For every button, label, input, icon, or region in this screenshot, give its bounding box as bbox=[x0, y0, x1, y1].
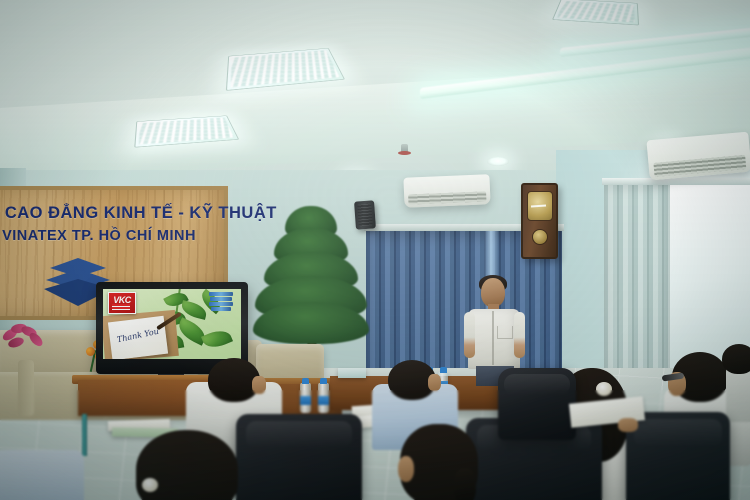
presenter-arm bbox=[464, 312, 475, 358]
table-leg bbox=[82, 414, 87, 456]
fire-sprinkler-icon bbox=[401, 144, 408, 153]
water-bottle bbox=[318, 383, 329, 413]
office-chair bbox=[498, 368, 576, 440]
vertical-blinds-right bbox=[604, 182, 670, 372]
clock-face bbox=[527, 191, 553, 221]
hand bbox=[618, 418, 638, 432]
office-chair bbox=[236, 414, 362, 500]
clock-pendulum bbox=[532, 229, 548, 245]
audience-face bbox=[428, 374, 441, 391]
vkc-logo: VKC bbox=[108, 292, 136, 314]
thank-you-card: Thank You bbox=[108, 316, 168, 359]
signboard-line-1: NG CAO ĐẲNG KINH TẾ - KỸ THUẬT bbox=[0, 204, 224, 223]
presenter-shirt bbox=[468, 309, 520, 369]
audience-face bbox=[398, 456, 414, 482]
armchair-armrest bbox=[18, 360, 34, 416]
air-conditioner-icon bbox=[403, 174, 490, 208]
presenter-shirt-pocket bbox=[497, 326, 513, 339]
wall-clock bbox=[521, 183, 558, 259]
vkc-logo-bar bbox=[112, 304, 130, 310]
office-chair bbox=[626, 412, 730, 500]
blue-books-icon bbox=[209, 292, 233, 309]
tv-screen: Thank You VKC bbox=[103, 289, 241, 359]
leaf bbox=[201, 326, 233, 351]
signboard-line-2: VINATEX TP. HỒ CHÍ MINH bbox=[0, 228, 224, 244]
lotus-decoration bbox=[2, 322, 46, 352]
blinds-rail bbox=[602, 178, 750, 185]
ac-vent bbox=[408, 191, 486, 204]
audience-face bbox=[252, 376, 266, 394]
presenter bbox=[464, 278, 526, 382]
flower-hairclip-icon bbox=[596, 382, 612, 396]
hair-ornament-icon bbox=[142, 478, 158, 492]
clock-hand bbox=[531, 204, 546, 207]
audience-member-left-edge bbox=[0, 450, 84, 500]
water-bottle bbox=[300, 383, 311, 413]
audience-head bbox=[722, 344, 750, 374]
ceiling-downlight bbox=[487, 157, 509, 166]
thank-you-text: Thank You bbox=[116, 327, 159, 345]
ponytail bbox=[454, 468, 476, 500]
presenter-arm bbox=[514, 312, 525, 358]
name-card bbox=[338, 368, 366, 378]
conference-room-photo: NG CAO ĐẲNG KINH TẾ - KỸ THUẬT VINATEX T… bbox=[0, 0, 750, 500]
presenter-shirt-placket bbox=[492, 311, 494, 365]
presenter-head bbox=[481, 278, 505, 307]
